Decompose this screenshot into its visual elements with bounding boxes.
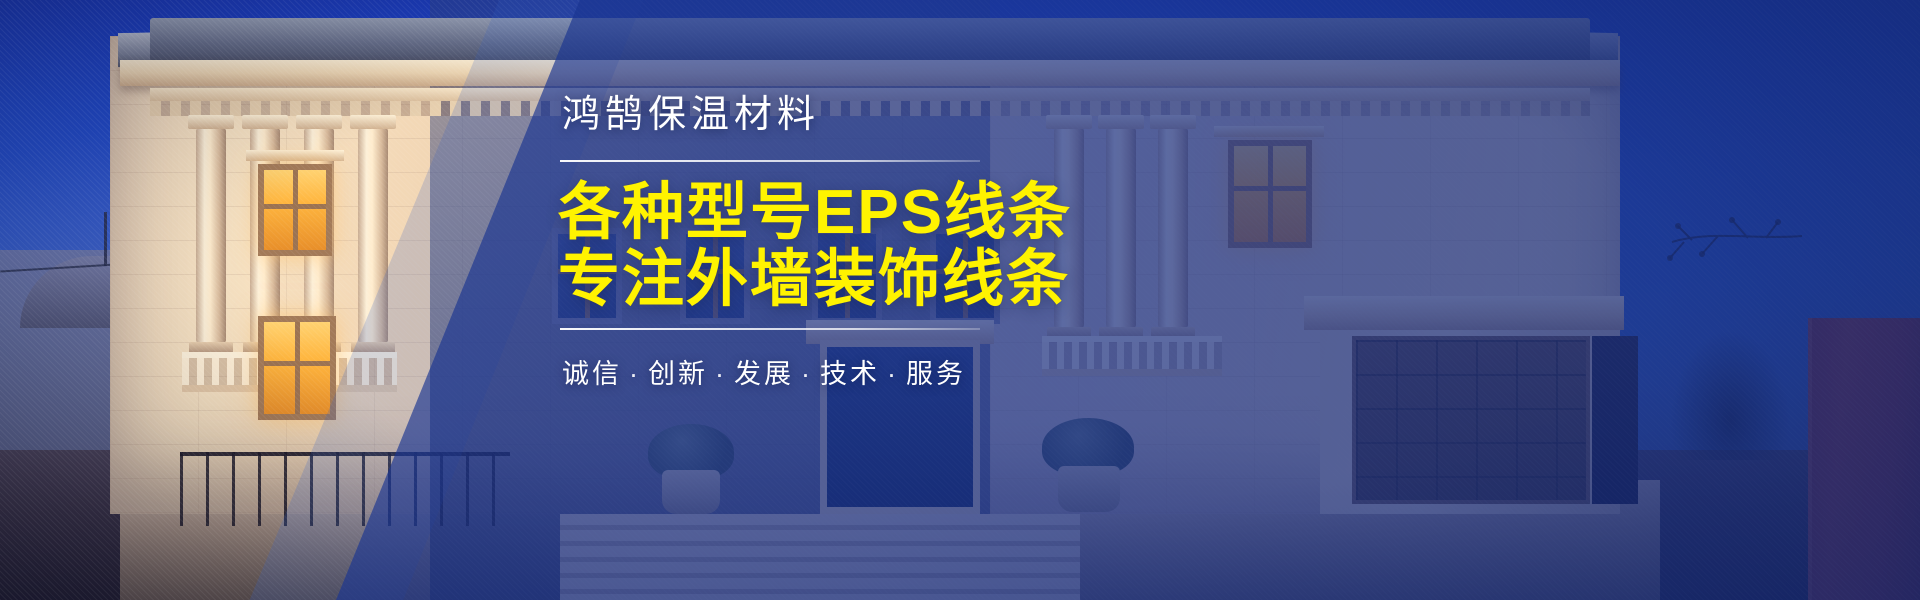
tagline-separator: ·	[801, 359, 813, 389]
headline-line-2: 专注外墙装饰线条	[558, 247, 1316, 314]
tagline-word: 诚信	[562, 359, 622, 389]
planter-pot	[1058, 466, 1120, 512]
roof-main	[150, 18, 1590, 64]
planter-pot	[662, 470, 720, 514]
tagline-separator: ·	[629, 359, 641, 389]
tagline-word: 服务	[906, 359, 966, 389]
iron-railing	[180, 452, 510, 526]
cornice-upper	[120, 60, 1620, 86]
tagline-separator: ·	[887, 359, 899, 389]
bare-branch	[1552, 196, 1802, 316]
garage-opening	[1592, 336, 1638, 504]
banner-content: 鸿鹄保温材料 各种型号EPS线条 专注外墙装饰线条 诚信·创新·发展·技术·服务	[556, 96, 1316, 391]
brand-name: 鸿鹄保温材料	[562, 96, 1316, 134]
entry-steps	[560, 514, 1080, 600]
window-hood	[246, 150, 344, 161]
tagline: 诚信·创新·发展·技术·服务	[562, 352, 1316, 391]
promo-banner: 鸿鹄保温材料 各种型号EPS线条 专注外墙装饰线条 诚信·创新·发展·技术·服务	[0, 0, 1920, 600]
tagline-word: 创新	[648, 359, 708, 389]
tree-silhouette	[1670, 330, 1790, 460]
headline-block: 各种型号EPS线条 专注外墙装饰线条	[558, 180, 1316, 314]
column	[358, 128, 388, 343]
red-wall	[1808, 318, 1920, 600]
branch-svg	[1552, 196, 1802, 316]
antenna-mast	[104, 212, 107, 266]
tagline-word: 技术	[820, 359, 880, 389]
headline-line-1: 各种型号EPS线条	[558, 180, 1316, 247]
tagline-separator: ·	[715, 359, 727, 389]
divider-top	[560, 160, 980, 162]
tagline-word: 发展	[734, 359, 794, 389]
garage-door	[1352, 336, 1590, 504]
lit-window	[258, 316, 336, 420]
divider-bottom	[560, 328, 980, 330]
lit-window	[258, 164, 332, 256]
column	[196, 128, 226, 343]
